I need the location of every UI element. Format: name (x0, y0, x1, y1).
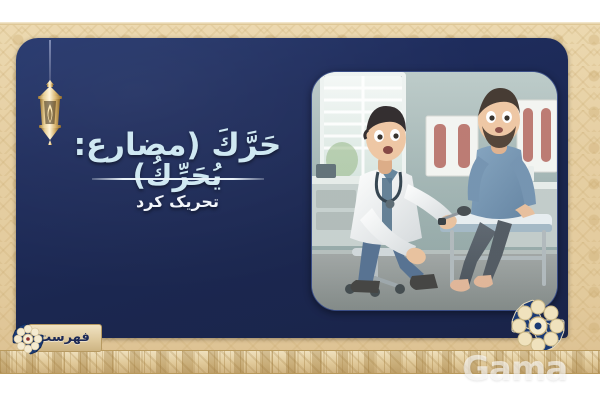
clinic-scene (312, 72, 557, 310)
index-rosette-icon[interactable] (8, 322, 48, 356)
watermark-logo: Gama (462, 352, 567, 386)
lantern-cord (49, 40, 51, 82)
illustration-image (311, 71, 558, 311)
frame-top-highlight (0, 22, 600, 25)
persian-meaning: تحریک کرد (60, 192, 295, 211)
underline-divider (92, 178, 264, 180)
arabic-word-line-2: يُحَرِّكُ) (60, 160, 295, 190)
top-white-margin (0, 0, 600, 22)
vocabulary-block: حَرَّكَ (مضارع: يُحَرِّكُ) تحریک کرد (60, 128, 295, 211)
slide-root: حَرَّكَ (مضارع: يُحَرِّكُ) تحریک کرد (0, 0, 600, 400)
eight-point-star-rosette-icon (505, 295, 571, 357)
